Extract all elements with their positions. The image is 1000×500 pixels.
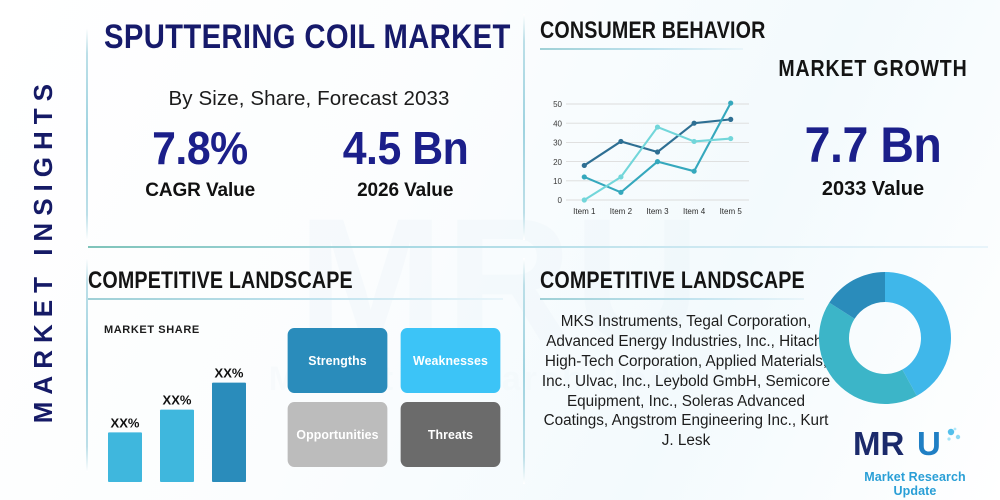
- kpi-2026-label: 2026 Value: [338, 180, 473, 202]
- bar-value-label: XX%: [163, 393, 192, 408]
- competitive-right-heading: COMPETITIVE LANDSCAPE: [540, 268, 761, 293]
- bar: [108, 432, 142, 482]
- infographic-canvas: MRU Market Research Update MARKET INSIGH…: [0, 0, 1000, 500]
- divider-vertical-left-top: [86, 28, 88, 240]
- competitive-right-header: COMPETITIVE LANDSCAPE: [540, 268, 810, 300]
- kpi-cagr: 7.8% CAGR Value: [145, 125, 255, 202]
- competitive-left-header: COMPETITIVE LANDSCAPE: [88, 268, 508, 300]
- line-chart-xtick: Item 1: [573, 207, 596, 216]
- line-chart-ytick: 0: [558, 196, 563, 205]
- line-chart-ytick: 40: [553, 119, 562, 128]
- divider-vertical-center-bottom: [523, 258, 525, 484]
- competitive-left-underline: [88, 298, 503, 300]
- line-chart-ytick: 20: [553, 158, 562, 167]
- market-share-title: MARKET SHARE: [104, 324, 200, 336]
- side-label-text: MARKET INSIGHTS: [28, 77, 59, 423]
- swot-threats-label: Threats: [428, 427, 473, 442]
- line-chart-svg: 01020304050Item 1Item 2Item 3Item 4Item …: [540, 98, 755, 220]
- bar-chart: XX%XX%XX%: [100, 348, 270, 489]
- line-chart-xtick: Item 2: [610, 207, 633, 216]
- consumer-behavior-underline: [540, 48, 743, 50]
- line-chart-xtick: Item 4: [683, 207, 706, 216]
- consumer-behavior-header: CONSUMER BEHAVIOR: [540, 18, 772, 50]
- kpi-2026-value: 4.5 Bn: [342, 125, 468, 171]
- swot-weaknesses[interactable]: Weaknesses: [401, 328, 501, 393]
- mru-logo: MR U Market Research Update: [845, 424, 985, 498]
- kpi-cagr-label: CAGR Value: [145, 180, 255, 202]
- header-panel: SPUTTERING COIL MARKET By Size, Share, F…: [104, 18, 514, 202]
- divider-horizontal-center: [88, 246, 988, 248]
- page-subtitle: By Size, Share, Forecast 2033: [104, 87, 514, 111]
- bar: [160, 410, 194, 482]
- mru-logo-mark: MR U: [845, 424, 985, 464]
- kpi-cagr-value: 7.8%: [149, 125, 251, 171]
- swot-opportunities[interactable]: Opportunities: [288, 402, 388, 467]
- bar-value-label: XX%: [215, 366, 244, 381]
- logo-mark-light-text: U: [917, 425, 941, 462]
- market-growth-value: 7.7 Bn: [768, 120, 978, 170]
- market-share-title-wrap: MARKET SHARE: [104, 324, 200, 336]
- donut-segment: [819, 303, 917, 404]
- logo-mark-dark-text: MR: [853, 425, 904, 462]
- competitive-right-underline: [540, 298, 804, 300]
- kpi-2026: 4.5 Bn 2026 Value: [338, 125, 473, 202]
- line-chart: 01020304050Item 1Item 2Item 3Item 4Item …: [540, 98, 755, 225]
- bar-value-label: XX%: [111, 415, 140, 430]
- swot-strengths[interactable]: Strengths: [288, 328, 388, 393]
- swot-grid: Strengths Weaknesses Opportunities Threa…: [285, 328, 503, 467]
- line-chart-ytick: 10: [553, 177, 562, 186]
- swot-strengths-label: Strengths: [308, 353, 366, 368]
- swot-weaknesses-label: Weaknesses: [413, 353, 488, 368]
- line-chart-ytick: 30: [553, 139, 562, 148]
- logo-tagline: Market Research Update: [845, 470, 985, 498]
- bar: [212, 383, 246, 482]
- market-growth-heading: MARKET GROWTH: [777, 55, 969, 82]
- donut-chart-svg: [805, 258, 965, 418]
- market-growth-panel: MARKET GROWTH 7.7 Bn 2033 Value: [760, 55, 986, 201]
- companies-list: MKS Instruments, Tegal Corporation, Adva…: [541, 312, 831, 451]
- competitive-left-heading: COMPETITIVE LANDSCAPE: [88, 268, 432, 293]
- line-chart-ytick: 50: [553, 100, 562, 109]
- kpi-row: 7.8% CAGR Value 4.5 Bn 2026 Value: [104, 125, 514, 202]
- consumer-behavior-heading: CONSUMER BEHAVIOR: [540, 18, 730, 43]
- line-chart-xtick: Item 3: [646, 207, 669, 216]
- side-label: MARKET INSIGHTS: [0, 0, 86, 500]
- donut-chart: [805, 258, 965, 423]
- divider-vertical-center-top: [523, 14, 525, 240]
- market-growth-label: 2033 Value: [760, 178, 986, 201]
- bar-chart-svg: XX%XX%XX%: [100, 348, 270, 484]
- swot-threats[interactable]: Threats: [401, 402, 501, 467]
- swot-opportunities-label: Opportunities: [296, 427, 378, 442]
- page-title: SPUTTERING COIL MARKET: [104, 18, 457, 57]
- line-chart-xtick: Item 5: [720, 207, 743, 216]
